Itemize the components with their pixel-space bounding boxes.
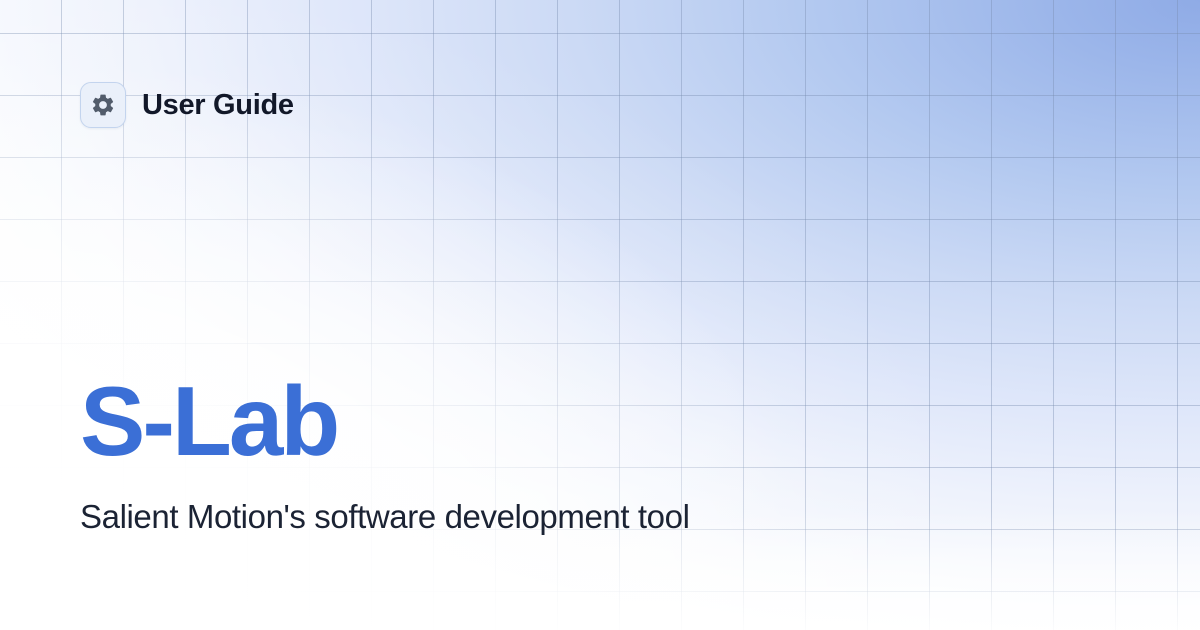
document-type-label: User Guide bbox=[142, 91, 294, 120]
hero-content: User Guide S-Lab Salient Motion's softwa… bbox=[0, 0, 1200, 630]
hero-banner: User Guide S-Lab Salient Motion's softwa… bbox=[0, 0, 1200, 630]
page-title: S-Lab bbox=[80, 372, 690, 470]
title-block: S-Lab Salient Motion's software developm… bbox=[80, 372, 690, 536]
document-type-badge: User Guide bbox=[80, 82, 294, 128]
gear-icon bbox=[80, 82, 126, 128]
page-subtitle: Salient Motion's software development to… bbox=[80, 470, 690, 536]
